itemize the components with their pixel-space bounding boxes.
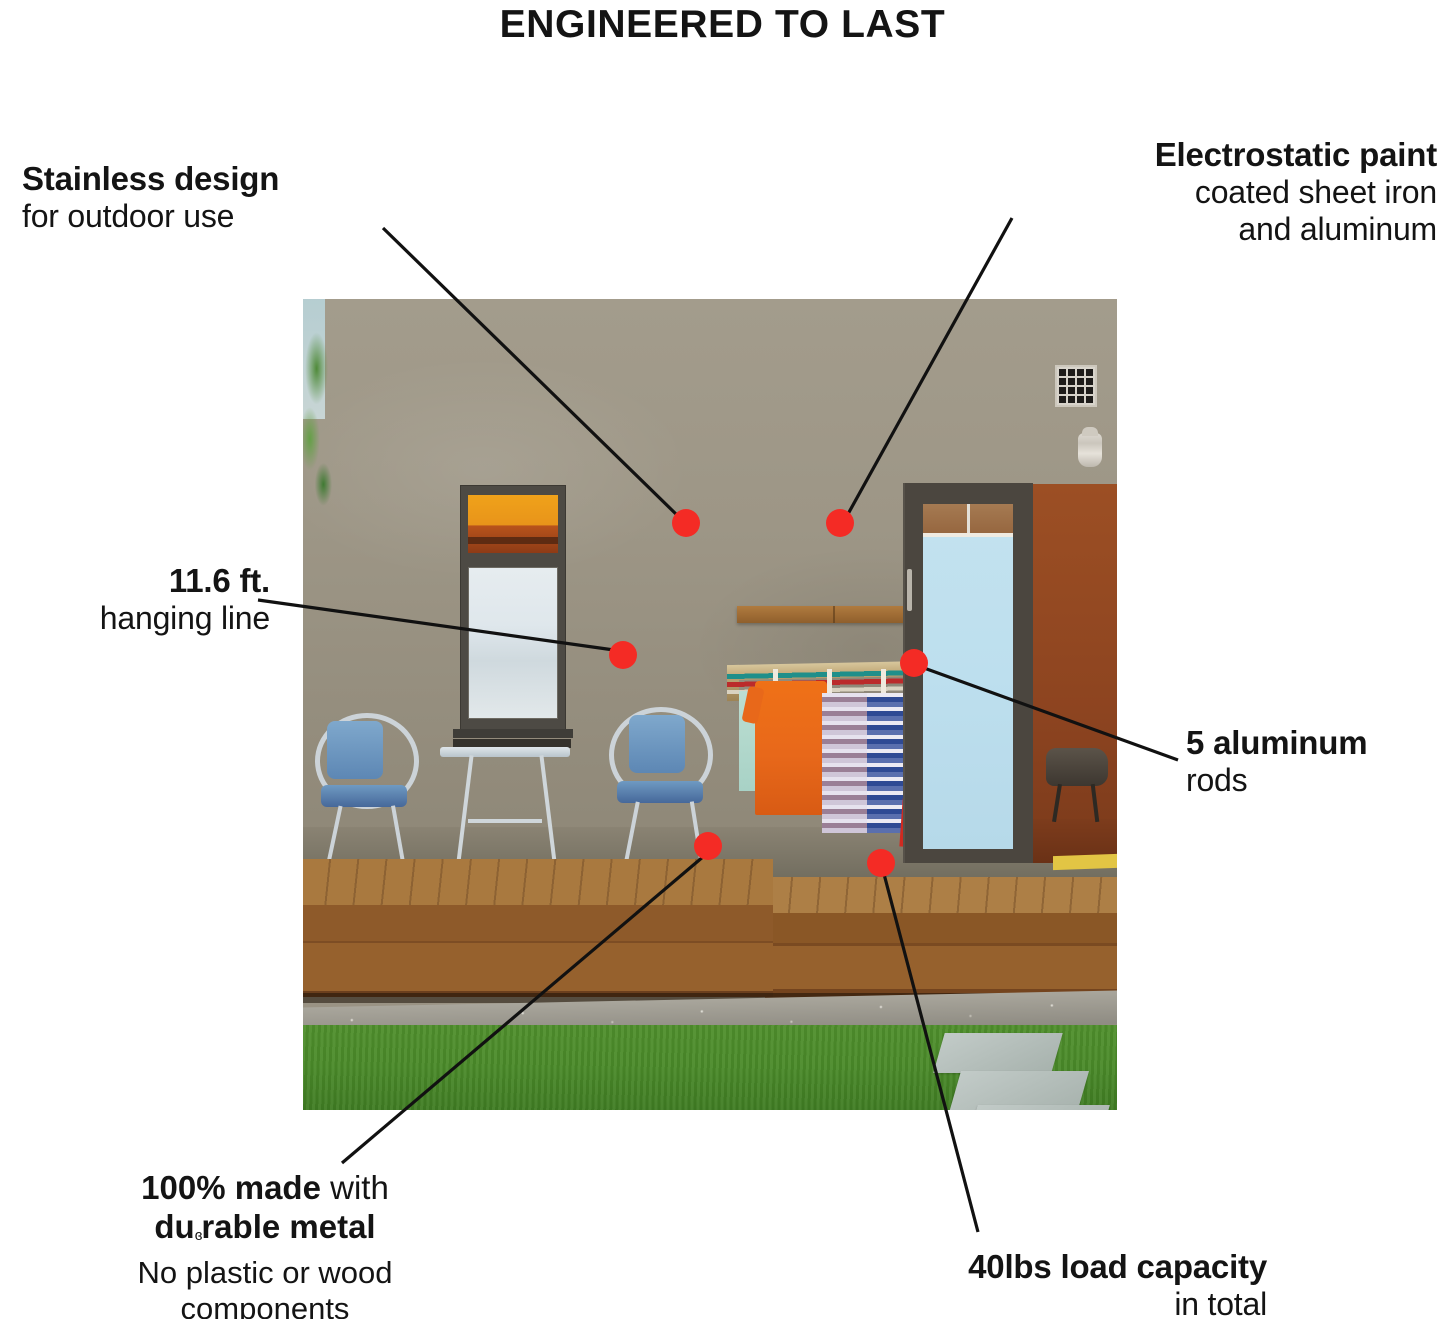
greenery-plant [303, 321, 337, 511]
callout-line2-part-b: rable metal [201, 1208, 375, 1245]
deck-upper-riser [765, 913, 1117, 1001]
callout-sub-line2: and aluminum [997, 211, 1437, 248]
interior-chair [1046, 748, 1108, 786]
callout-electrostatic-paint: Electrostatic paint coated sheet iron an… [997, 136, 1437, 248]
callout-line2: duɞrable metal [60, 1207, 470, 1255]
door-transom-divider [967, 504, 970, 534]
marker-dot-durable-metal [694, 832, 722, 860]
rack-clip [827, 669, 832, 693]
callout-stainless-design: Stainless design for outdoor use [22, 160, 402, 235]
window-sill [453, 729, 573, 738]
deck-lower-platform [303, 859, 773, 911]
callout-line2-part-a: du [154, 1208, 194, 1245]
callout-sub-line1: coated sheet iron [997, 174, 1437, 211]
product-photo [303, 299, 1117, 1110]
callout-sub: rods [1186, 762, 1445, 799]
interior-wall [1033, 484, 1117, 862]
callout-lead: 11.6 ft. [0, 562, 270, 600]
side-table-top [440, 747, 570, 757]
window-frosted-pane [468, 567, 558, 719]
laundry-orange-shirt [755, 681, 827, 815]
deck-lower-riser [303, 905, 773, 997]
callout-aluminum-rods: 5 aluminum rods [1186, 724, 1445, 799]
wall-shelf-plank [737, 606, 909, 623]
marker-dot-aluminum-rods [900, 649, 928, 677]
stepping-stone [933, 1033, 1062, 1073]
callout-load-capacity: 40lbs load capacity in total [797, 1248, 1267, 1319]
laundry-striped-towel [822, 693, 868, 833]
window-transom-orange [468, 495, 558, 553]
rack-clip [881, 669, 886, 693]
callout-lead: Electrostatic paint [997, 136, 1437, 174]
callout-sub: hanging line [0, 600, 270, 637]
callout-sub: for outdoor use [22, 198, 402, 235]
callout-lead: 40lbs load capacity [797, 1248, 1267, 1286]
callout-line1-plain: with [321, 1169, 389, 1206]
door-transom-rail [923, 533, 1013, 537]
callout-lead: 5 aluminum [1186, 724, 1445, 762]
marker-dot-stainless-design [672, 509, 700, 537]
callout-sub-line1: No plastic or wood [60, 1255, 470, 1291]
page-title: ENGINEERED TO LAST [0, 0, 1445, 48]
callout-lead: Stainless design [22, 160, 402, 198]
stepping-stone [968, 1105, 1110, 1110]
sliding-door-glass [923, 504, 1013, 849]
solar-panel-icon [1055, 365, 1097, 407]
callout-hanging-line: 11.6 ft. hanging line [0, 562, 270, 637]
yellow-floor-mat [1053, 854, 1117, 870]
side-table-crossbar [468, 819, 542, 823]
callout-line1-bold: 100% made [141, 1169, 321, 1206]
callout-durable-metal: 100% made with duɞrable metal No plastic… [60, 1168, 470, 1319]
marker-dot-load-capacity [867, 849, 895, 877]
marker-dot-hanging-line [609, 641, 637, 669]
door-handle [907, 569, 912, 611]
callout-sub: in total [797, 1286, 1267, 1319]
callout-line1: 100% made with [60, 1168, 470, 1207]
window-transom-bar [468, 537, 558, 544]
callout-sub-line2: components [60, 1291, 470, 1319]
infographic-page: ENGINEERED TO LAST [0, 0, 1445, 1319]
marker-dot-electrostatic-paint [826, 509, 854, 537]
outdoor-light-fixture [1078, 433, 1102, 467]
